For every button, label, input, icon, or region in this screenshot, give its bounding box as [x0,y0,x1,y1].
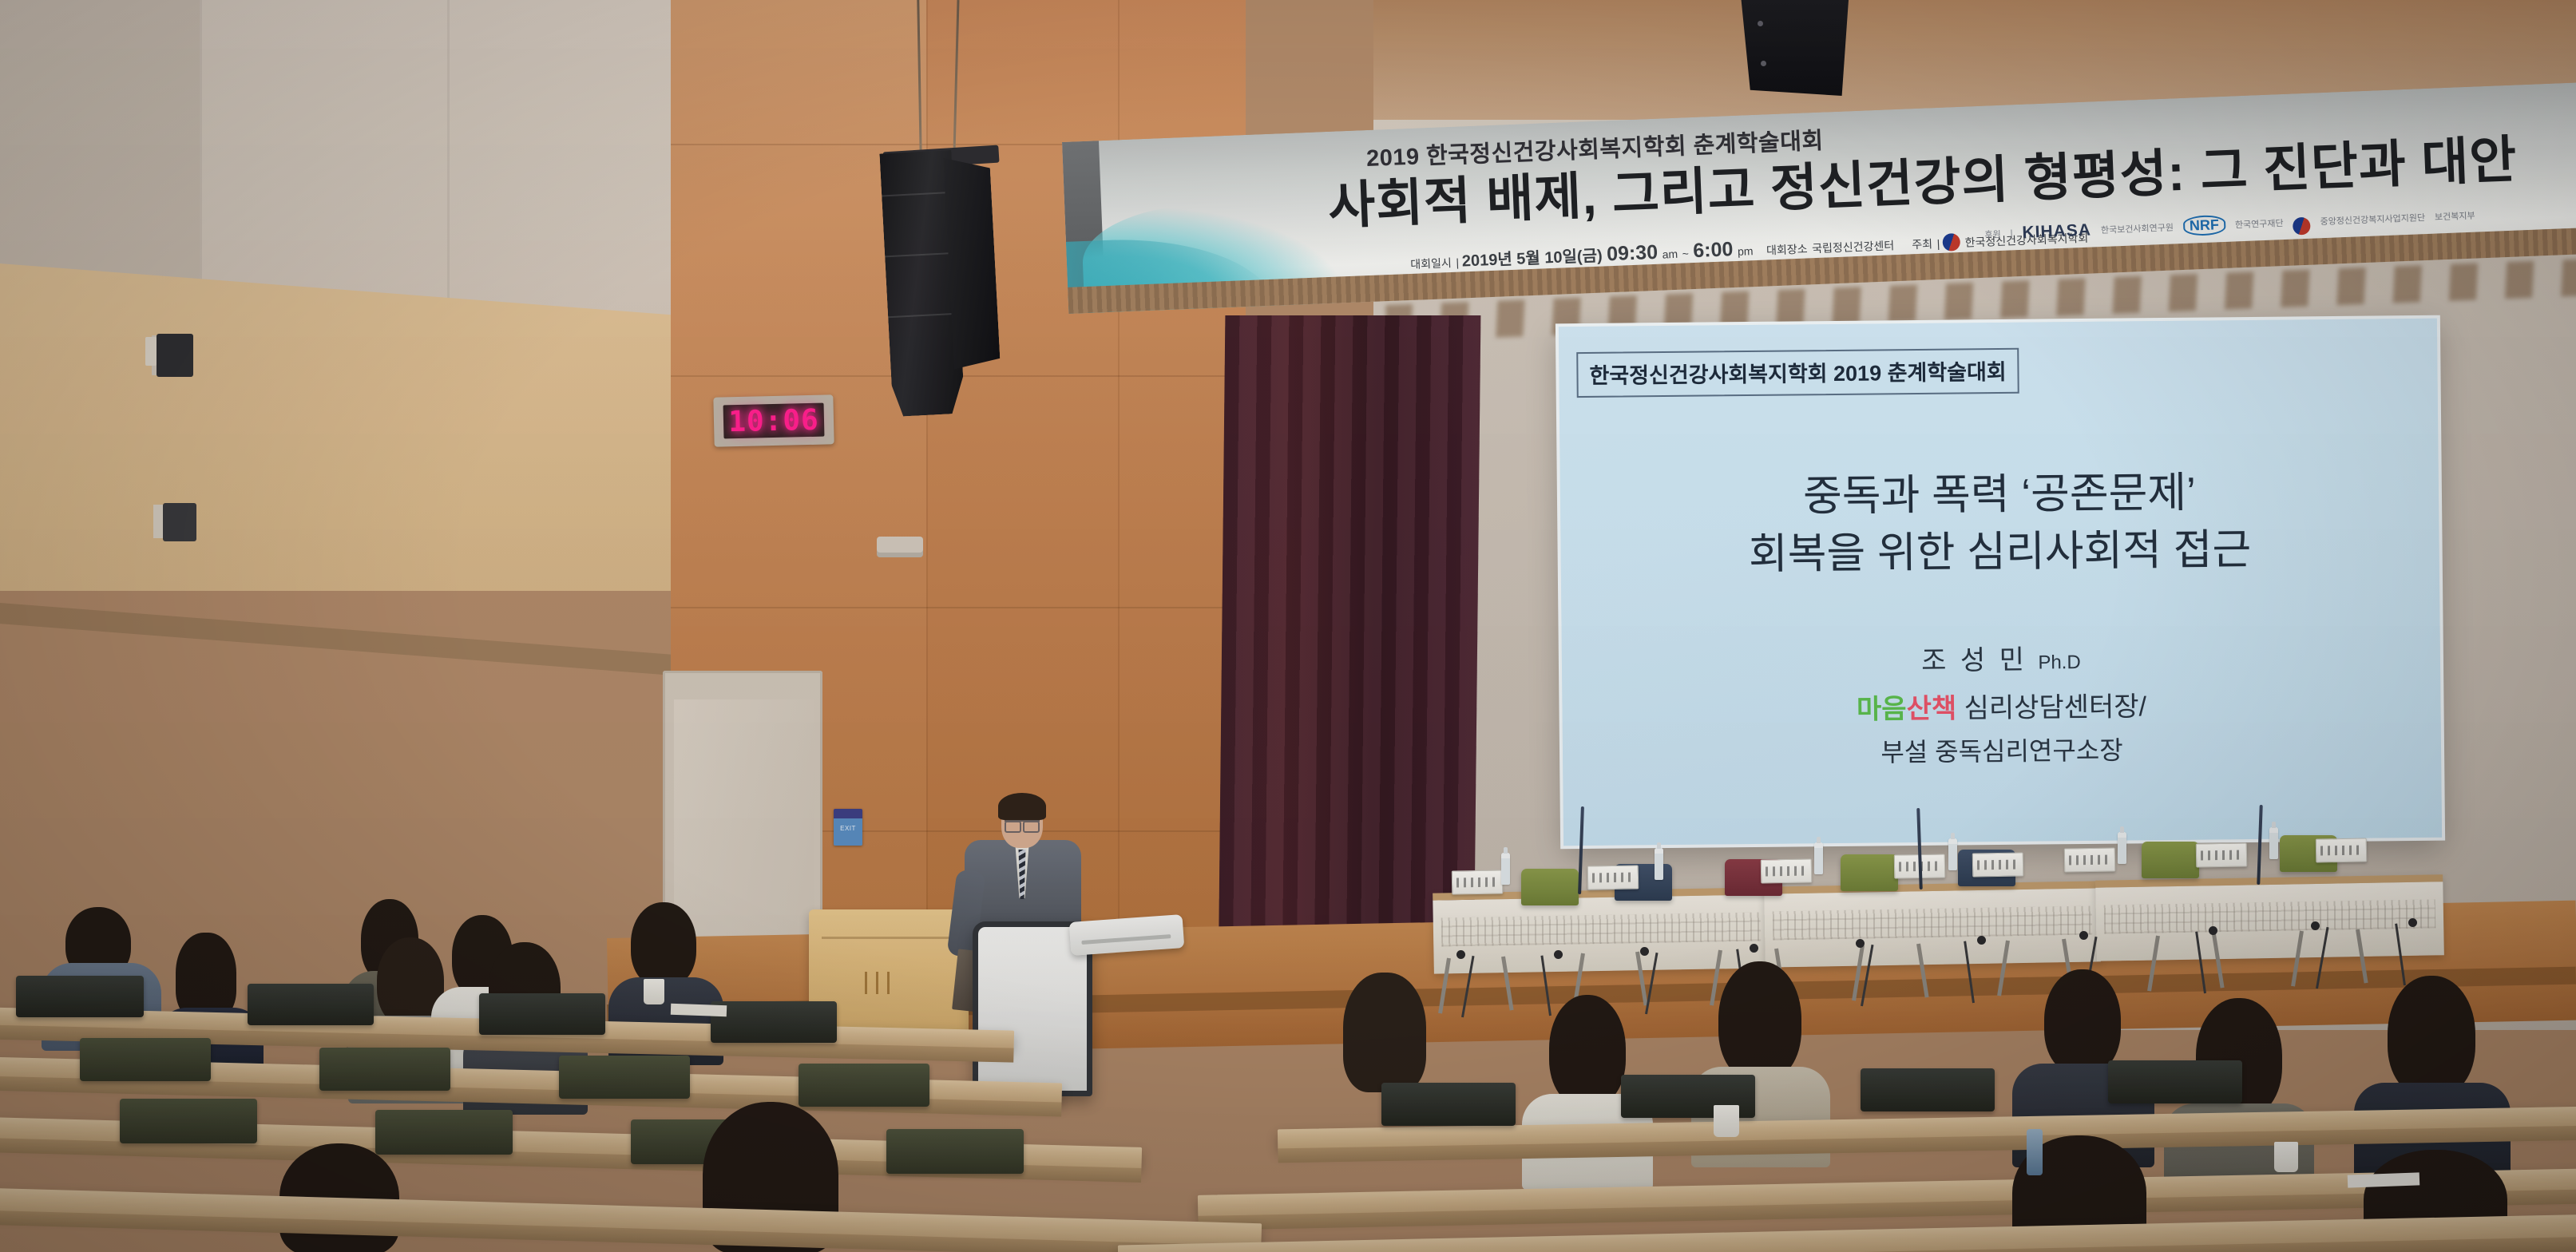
slide-title-line2: 회복을 위한 심리사회적 접근 [1560,519,2439,584]
sponsor-label: 후원 [1984,227,2001,240]
audience-seat [799,1064,929,1107]
mic-head-icon [1750,944,1758,953]
audience-desk-row [0,1188,1262,1248]
banner-time-end: 6:00 [1693,238,1734,262]
wood-seam [926,0,928,950]
sponsor-nrf-logo: NRF [2182,215,2225,236]
audience-seat [1861,1068,1995,1111]
panel-chair [1521,869,1579,905]
name-placard [1452,870,1504,894]
water-bottle [1814,842,1823,874]
door-panel[interactable] [674,699,814,950]
mic-head-icon [2209,926,2217,935]
stage-curtain [1219,315,1481,986]
mic-head-icon [1856,939,1865,948]
wood-grain-line [671,607,1246,608]
wall-trim [0,603,680,676]
water-bottle [2269,827,2278,859]
water-bottle [2027,1129,2043,1175]
sponsor-divider: | [2010,228,2012,238]
cabinet-vents [865,972,898,994]
org-brand-red: 산책 [1906,694,1956,725]
org-role: 심리상담센터장/ [1956,691,2146,723]
sponsor-gov-name: 보건복지부 [2435,208,2475,223]
banner-am: am [1662,248,1678,261]
slide-title-line1: 중독과 폭력 ‘공존문제’ [1560,462,2439,528]
presenter-name: 조 성 민 [1921,645,2027,676]
presenter-glasses-icon [1005,820,1040,830]
stage-door[interactable] [663,671,822,950]
mic-head-icon [1640,947,1649,956]
banner-venue-label: 대회장소 [1766,242,1808,256]
audience-seat [2108,1060,2242,1103]
mic-head-icon [2311,921,2320,930]
audience-seat [886,1129,1024,1174]
paper-cup [644,979,664,1004]
audience-seat [16,976,144,1017]
wall-speaker-icon [163,503,196,541]
mic-head-icon [1554,950,1563,959]
audience-seat [80,1038,211,1081]
water-bottle [1655,848,1663,880]
presentation-slide: 한국정신건강사회복지학회 2019 춘계학술대회 중독과 폭력 ‘공존문제’ 회… [1559,319,2442,846]
paper-cup [2274,1142,2298,1172]
paper-handout [2348,1172,2420,1187]
host-logo-icon [1943,233,1961,252]
mic-head-icon [1456,950,1465,959]
name-placard [2316,838,2368,862]
mic-head-icon [2079,931,2088,940]
sponsor-kihasa-sub: 한국보건사회연구원 [2101,220,2174,236]
audience-seat [375,1110,513,1155]
paper-cup [1714,1105,1739,1137]
panel-table [1764,881,2101,967]
digital-clock: 10:06 [713,394,834,446]
banner-venue-value: 국립정신건강센터 [1812,239,1895,255]
name-placard [2196,842,2248,867]
panel-chair [2142,842,2199,878]
slide-organization: 마음산책 심리상담센터장/ [1562,682,2440,730]
audience-seat [120,1099,257,1143]
slide-organization-2: 부설 중독심리연구소장 [1563,727,2441,773]
audience-seat [248,984,374,1025]
exit-sign-label: EXIT [834,825,862,832]
mic-head-icon [1977,936,1986,945]
name-placard [2064,847,2116,872]
water-bottle [1501,853,1510,885]
water-bottle [1948,838,1957,870]
exit-sign-icon: EXIT [834,809,862,846]
presenter-degree: Ph.D [2038,652,2081,674]
banner-pm: pm [1738,244,1754,258]
presenter-hair [998,793,1046,820]
audience-seat [1381,1083,1516,1126]
slide-presenter: 조 성 민 Ph.D [1562,634,2440,682]
sponsor-gov-sub: 중앙정신건강복지사업지원단 [2320,211,2425,228]
sponsor-nrf-sub: 한국연구재단 [2235,216,2284,231]
name-placard [1972,852,2024,877]
panel-table [2095,874,2444,961]
org-brand-green: 마음 [1857,694,1907,725]
conference-hall-photo: 2019 한국정신건강사회복지학회 춘계학술대회 사회적 배제, 그리고 정신건… [0,0,2576,1252]
audience-seat [319,1048,450,1091]
slide-header-badge: 한국정신건강사회복지학회 2019 춘계학술대회 [1576,348,2019,398]
wall-camera-icon [157,334,193,377]
audience-seat [479,993,605,1035]
audience-seat [559,1056,690,1099]
mic-head-icon [2408,918,2417,927]
name-placard [1587,865,1639,889]
sponsor-kihasa-logo: KIHASA [2022,220,2091,242]
wall-sensor-icon [877,537,923,557]
banner-host-label: 주최 [1912,237,1932,251]
projection-screen: 한국정신건강사회복지학회 2019 춘계학술대회 중독과 폭력 ‘공존문제’ 회… [1559,319,2442,846]
audience-seat [711,1001,837,1043]
banner-time-start: 09:30 [1607,241,1659,265]
banner-tilde: ~ [1682,247,1689,260]
name-placard [1761,858,1813,883]
banner-date-label: 대회일시 [1410,256,1452,271]
clock-time: 10:06 [728,403,819,438]
panel-chair [1841,854,1898,891]
slide-title: 중독과 폭력 ‘공존문제’ 회복을 위한 심리사회적 접근 [1560,462,2439,585]
water-bottle [2118,832,2126,864]
corner-speaker-icon [1737,0,1849,96]
clock-face: 10:06 [723,403,825,439]
paper-handout [671,1004,727,1016]
